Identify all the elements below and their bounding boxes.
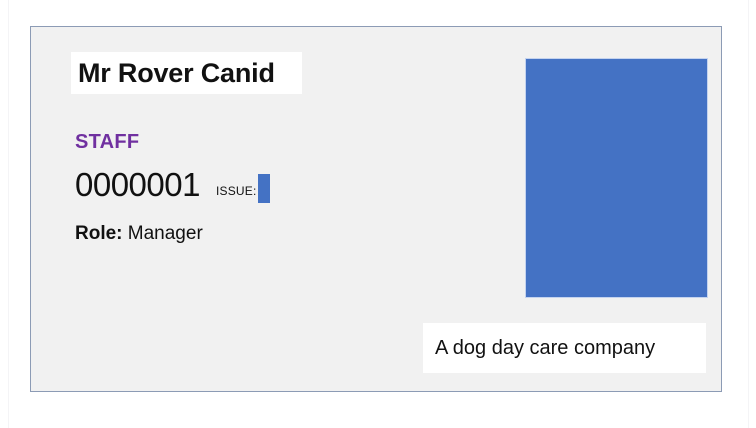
issue-value-placeholder-box — [258, 174, 270, 203]
cardholder-name: Mr Rover Canid — [78, 58, 275, 89]
role-value: Manager — [128, 223, 203, 244]
staff-category-label: STAFF — [75, 131, 139, 154]
cardholder-photo-placeholder — [525, 58, 708, 298]
issue-label: ISSUE: — [216, 184, 257, 198]
page-guide-left — [8, 0, 9, 428]
staff-id-card: Mr Rover Canid STAFF 0000001 ISSUE: Role… — [30, 26, 722, 392]
cardholder-name-banner: Mr Rover Canid — [71, 52, 302, 94]
staff-number-row: 0000001 ISSUE: — [75, 163, 270, 201]
role-row: Role: Manager — [75, 223, 203, 245]
page-guide-right — [748, 0, 749, 428]
company-tagline: A dog day care company — [435, 337, 655, 360]
staff-number: 0000001 — [75, 168, 200, 201]
role-label: Role: — [75, 223, 123, 244]
company-tagline-box: A dog day care company — [423, 323, 706, 373]
